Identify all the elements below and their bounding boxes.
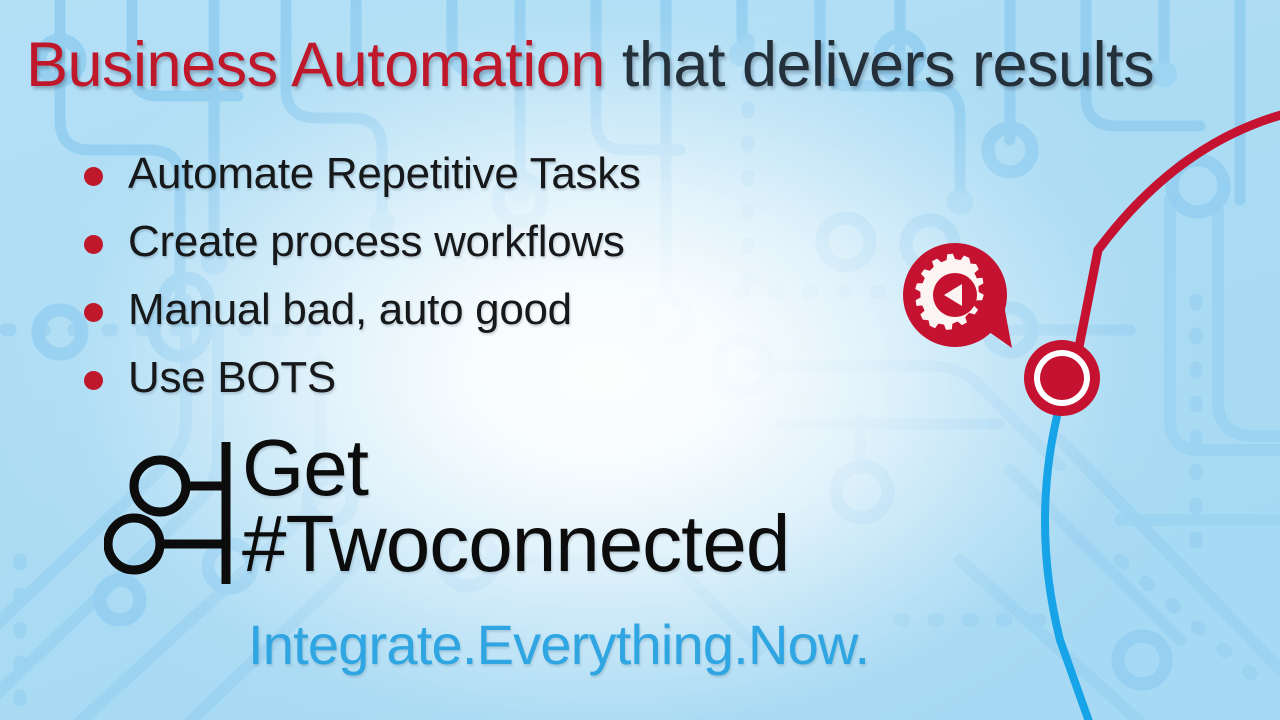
bullet-dot-icon <box>84 371 103 390</box>
brand-line-2: #Twoconnected <box>242 506 789 582</box>
list-item-label: Use BOTS <box>128 353 336 403</box>
list-item: Automate Repetitive Tasks <box>80 140 641 208</box>
bullet-dot-icon <box>84 303 103 322</box>
feature-list: Automate Repetitive Tasks Create process… <box>80 140 641 412</box>
list-item-label: Create process workflows <box>128 217 625 267</box>
headline-rest: that delivers results <box>605 30 1154 100</box>
two-nodes-connector-mark <box>104 438 236 588</box>
bullet-dot-icon <box>84 167 103 186</box>
list-item: Manual bad, auto good <box>80 276 641 344</box>
brand-tagline: Integrate.Everything.Now. <box>248 612 869 677</box>
list-item-label: Automate Repetitive Tasks <box>128 149 641 199</box>
bullet-dot-icon <box>84 235 103 254</box>
brand-line-1: Get <box>242 430 789 506</box>
page-title: Business Automation that delivers result… <box>26 34 1154 97</box>
list-item: Use BOTS <box>80 344 641 412</box>
promo-banner: Business Automation that delivers result… <box>0 0 1280 720</box>
list-item-label: Manual bad, auto good <box>128 285 572 335</box>
headline-accent: Business Automation <box>26 30 605 100</box>
brand-wordmark: Get #Twoconnected <box>242 430 789 582</box>
list-item: Create process workflows <box>80 208 641 276</box>
